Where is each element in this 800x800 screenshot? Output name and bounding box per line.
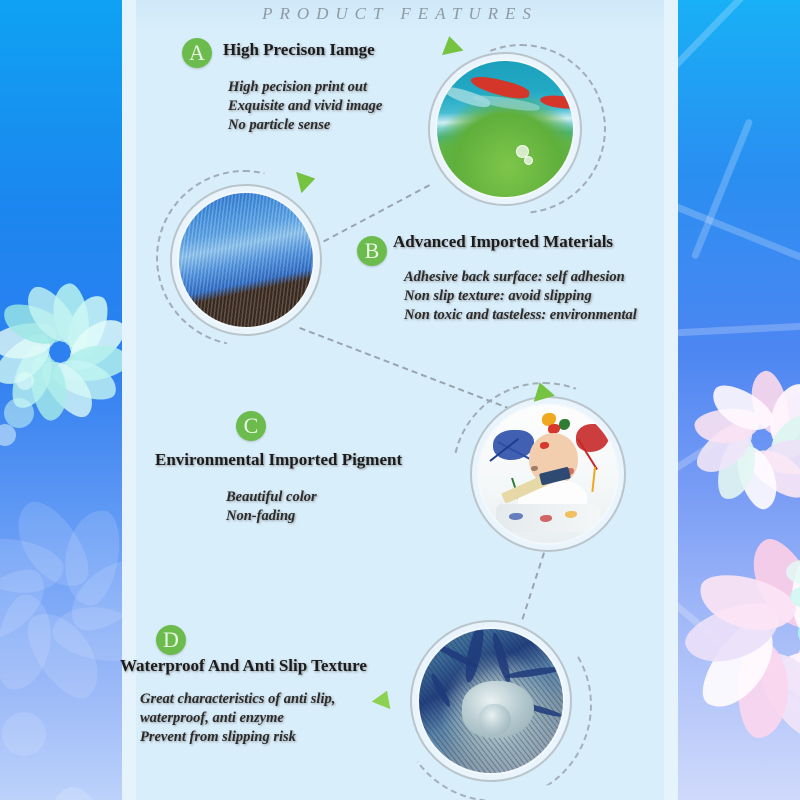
left-decorative-band bbox=[0, 0, 122, 800]
body-a: High pecision print out Exquisite and vi… bbox=[228, 78, 382, 135]
left-band-gap bbox=[122, 0, 136, 800]
badge-d: D bbox=[156, 625, 186, 655]
right-decorative-band bbox=[678, 0, 800, 800]
blue-ribbed-fabric-photo bbox=[177, 191, 315, 329]
body-b-line-1: Adhesive back surface: self adhesion bbox=[404, 268, 637, 287]
body-d-line-3: Prevent from slipping risk bbox=[140, 728, 335, 747]
body-b: Adhesive back surface: self adhesion Non… bbox=[404, 268, 637, 325]
body-a-line-3: No particle sense bbox=[228, 116, 382, 135]
body-d-line-2: waterproof, anti enzyme bbox=[140, 709, 335, 728]
waterproof-texture-photo bbox=[417, 627, 565, 775]
body-d: Great characteristics of anti slip, wate… bbox=[140, 690, 335, 747]
heading-b: Advanced Imported Materials bbox=[393, 232, 613, 252]
body-b-line-3: Non toxic and tasteless: environmental bbox=[404, 306, 637, 325]
body-a-line-2: Exquisite and vivid image bbox=[228, 97, 382, 116]
body-a-line-1: High pecision print out bbox=[228, 78, 382, 97]
right-band-petal-flowers bbox=[678, 0, 800, 800]
product-features-poster: PRODUCT FEATURES A High Precison Iamge H… bbox=[0, 0, 800, 800]
badge-b: B bbox=[357, 236, 387, 266]
right-band-gap bbox=[664, 0, 678, 800]
heading-c: Environmental Imported Pigment bbox=[155, 450, 402, 470]
body-c: Beautiful color Non-fading bbox=[226, 488, 317, 526]
body-c-line-1: Beautiful color bbox=[226, 488, 317, 507]
heading-d: Waterproof And Anti Slip Texture bbox=[120, 656, 367, 676]
painting-baby-photo bbox=[477, 403, 619, 545]
body-d-line-1: Great characteristics of anti slip, bbox=[140, 690, 335, 709]
heading-a: High Precison Iamge bbox=[223, 40, 375, 60]
body-b-line-2: Non slip texture: avoid slipping bbox=[404, 287, 637, 306]
body-c-line-2: Non-fading bbox=[226, 507, 317, 526]
koi-pond-print-photo bbox=[435, 59, 575, 199]
badge-a: A bbox=[182, 38, 212, 68]
badge-c: C bbox=[236, 411, 266, 441]
page-title: PRODUCT FEATURES bbox=[136, 4, 664, 24]
left-band-petal-fan bbox=[0, 0, 122, 800]
